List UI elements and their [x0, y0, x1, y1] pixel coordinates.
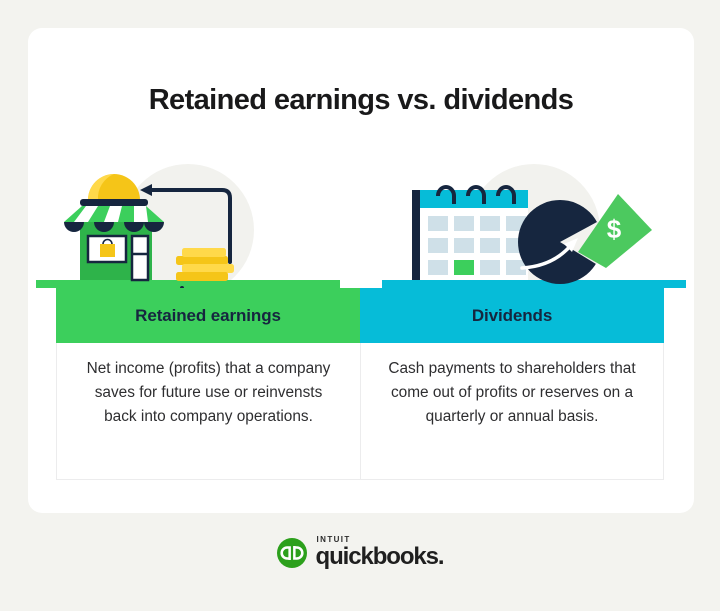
illustrations-row: $: [28, 156, 694, 288]
store-window: [88, 236, 126, 262]
quickbooks-wordmark: INTUIT quickbooks.: [316, 536, 444, 569]
svg-text:$: $: [607, 214, 622, 244]
storefront-with-coins-illustration: [36, 156, 340, 288]
page-title: Retained earnings vs. dividends: [28, 84, 694, 117]
column-body-dividends: Cash payments to shareholders that come …: [360, 343, 664, 480]
comparison-table: Retained earnings Dividends Net income (…: [56, 288, 664, 480]
quickbooks-qb-circle-icon: [277, 538, 307, 568]
table-header-row: Retained earnings Dividends: [56, 288, 664, 343]
calendar-with-pie-chart-illustration: $: [382, 156, 686, 288]
table-body-row: Net income (profits) that a company save…: [56, 343, 664, 480]
quickbooks-label: quickbooks.: [316, 545, 444, 569]
ground-strip: [382, 280, 686, 288]
calendar: [412, 187, 528, 280]
infographic-card: Retained earnings vs. dividends: [28, 28, 694, 513]
infographic-page: Retained earnings vs. dividends: [0, 0, 720, 611]
column-body-retained-earnings: Net income (profits) that a company save…: [56, 343, 360, 480]
column-header-dividends: Dividends: [360, 288, 664, 343]
coin-stack: [176, 248, 234, 281]
highlighted-day: [454, 260, 474, 275]
gold-dome: [80, 174, 148, 206]
brand-footer: INTUIT quickbooks.: [0, 536, 720, 569]
column-header-retained-earnings: Retained earnings: [56, 288, 360, 343]
ground-strip: [36, 280, 340, 288]
store-door: [132, 236, 148, 280]
